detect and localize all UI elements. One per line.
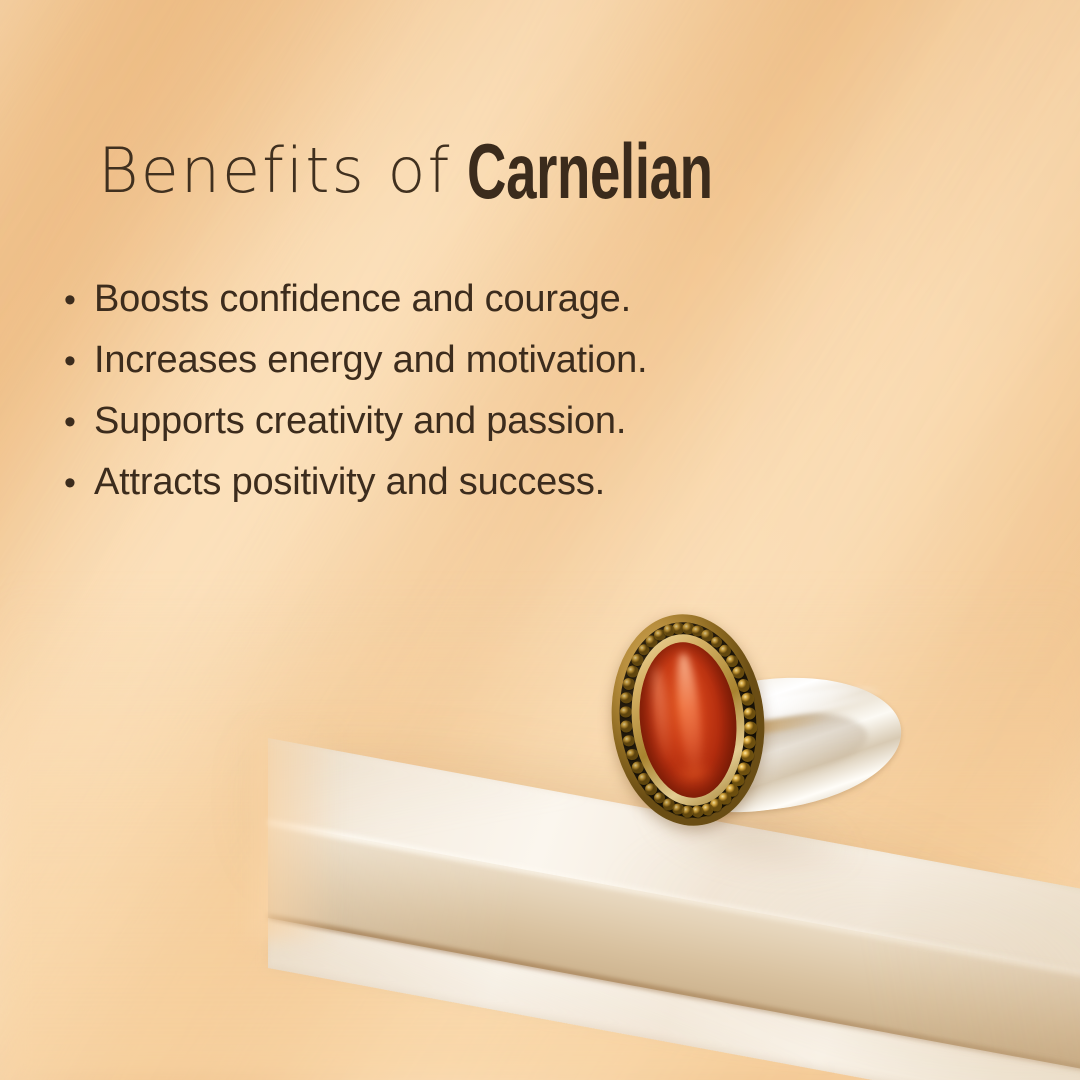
page-title-light-part: Benefits of (98, 134, 451, 207)
list-item: • Increases energy and motivation. (64, 339, 944, 400)
list-item-label: Attracts positivity and success. (94, 461, 605, 504)
page-title: Benefits ofCarnelian (98, 126, 818, 204)
list-item: • Attracts positivity and success. (64, 461, 944, 522)
list-item: • Supports creativity and passion. (64, 400, 944, 461)
list-item: • Boosts confidence and courage. (64, 278, 944, 339)
benefits-list: • Boosts confidence and courage. • Incre… (64, 278, 944, 522)
page-title-bold-part: Carnelian (467, 132, 713, 210)
bullet-icon: • (64, 466, 94, 500)
list-item-label: Supports creativity and passion. (94, 400, 626, 443)
list-item-label: Boosts confidence and courage. (94, 278, 631, 321)
bullet-icon: • (64, 283, 94, 317)
list-item-label: Increases energy and motivation. (94, 339, 647, 382)
text-layer: Benefits ofCarnelian • Boosts confidence… (0, 0, 1080, 1080)
bullet-icon: • (64, 405, 94, 439)
carnelian-benefits-poster: Benefits ofCarnelian • Boosts confidence… (0, 0, 1080, 1080)
bullet-icon: • (64, 344, 94, 378)
